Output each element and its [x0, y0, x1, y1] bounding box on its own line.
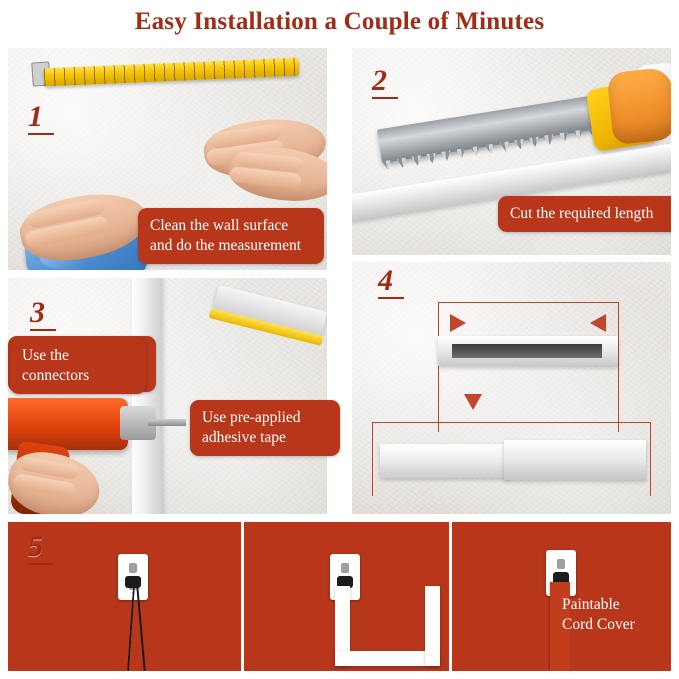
step-number-4: 4	[378, 266, 404, 299]
step-3-caption-tape: Use pre-applied adhesive tape	[190, 400, 340, 456]
guide-line	[372, 422, 650, 423]
page-title: Easy Installation a Couple of Minutes	[0, 8, 679, 36]
arrow-left-icon	[590, 314, 606, 332]
arrow-right-icon	[450, 314, 466, 332]
guide-line	[650, 422, 651, 496]
step-number-3: 3	[30, 298, 56, 331]
step-2-panel: 2 Cut the required length	[352, 48, 671, 255]
cover-piece-left	[380, 444, 510, 478]
panel-divider	[449, 522, 452, 671]
step-4-caption: Use the connectors	[10, 338, 146, 394]
step-5-caption-line1: Paintable	[562, 595, 666, 615]
step-number-2: 2	[372, 66, 398, 99]
installation-infographic: Easy Installation a Couple of Minutes 1 …	[0, 0, 679, 679]
step-1-panel: 1 Clean the wall surface and do the meas…	[8, 48, 327, 270]
arrow-down-icon	[464, 394, 482, 410]
step-5-caption-line2: Cord Cover	[562, 615, 666, 635]
cord-cover-channel	[132, 278, 162, 514]
guide-line	[438, 302, 619, 303]
work-glove	[606, 67, 671, 145]
step-number-5: 5	[28, 532, 54, 565]
drill-bit	[148, 419, 186, 426]
connector-slot	[452, 344, 602, 358]
step-3-panel: 3	[8, 278, 327, 514]
guide-line	[372, 422, 373, 496]
cord-cover-vertical-b2	[425, 586, 440, 666]
step-2-caption: Cut the required length	[498, 196, 671, 232]
panel-divider	[241, 522, 244, 671]
step-5-caption: Paintable Cord Cover	[562, 595, 666, 635]
step-1-caption: Clean the wall surface and do the measur…	[138, 208, 324, 264]
guide-line	[618, 302, 619, 432]
step-number-1: 1	[28, 102, 54, 135]
guide-line	[438, 302, 439, 432]
cover-piece-right	[504, 440, 646, 480]
step-4-panel: 4	[352, 262, 671, 514]
